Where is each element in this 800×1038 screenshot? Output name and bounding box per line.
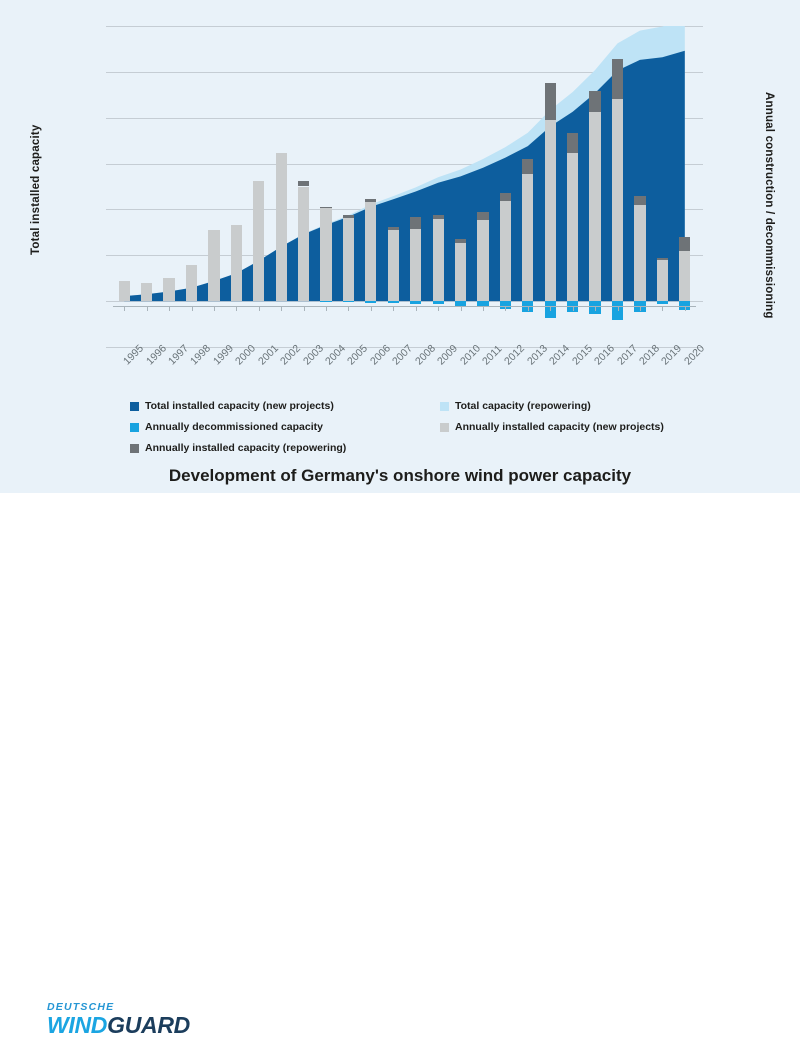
bar-annual-installed-repowering (298, 181, 309, 187)
bar-annual-decommissioned (388, 301, 399, 303)
legend-swatch (130, 423, 139, 432)
x-tickmark (595, 306, 596, 311)
bar-annual-installed-repowering (545, 83, 556, 120)
x-tickmark (169, 306, 170, 311)
legend-item[interactable]: Total installed capacity (new projects) (130, 400, 420, 413)
chart-page: Total installed capacity Annual construc… (0, 0, 800, 560)
x-tickmark (528, 306, 529, 311)
footer: DEUTSCHE WINDGUARD (0, 493, 800, 560)
x-tickmark (685, 306, 686, 311)
legend-label: Annually installed capacity (new project… (455, 421, 664, 434)
left-tickmark (106, 347, 113, 348)
x-tickmark (192, 306, 193, 311)
legend-swatch (440, 402, 449, 411)
bar-annual-installed-repowering (634, 196, 645, 205)
bar-annual-installed-repowering (455, 239, 466, 244)
bar-annual-installed-new (388, 230, 399, 301)
bar-annual-installed-repowering (500, 193, 511, 201)
bar-annual-installed-new (455, 243, 466, 301)
legend-swatch (130, 402, 139, 411)
bar-annual-installed-new (276, 153, 287, 301)
x-tickmark (348, 306, 349, 311)
x-tickmark (416, 306, 417, 311)
bar-annual-installed-repowering (589, 91, 600, 113)
bar-annual-installed-new (343, 218, 354, 301)
left-tickmark (106, 255, 113, 256)
legend-item[interactable]: Annually installed capacity (repowering) (130, 442, 420, 455)
left-tickmark (106, 118, 113, 119)
brand-wind: WIND (47, 1012, 107, 1038)
brand-logo: DEUTSCHE WINDGUARD (47, 1001, 190, 1038)
x-tickmark (461, 306, 462, 311)
legend-label: Annually installed capacity (repowering) (145, 442, 346, 455)
x-tickmark (326, 306, 327, 311)
bar-annual-installed-repowering (388, 227, 399, 230)
legend-item[interactable]: Total capacity (repowering) (440, 400, 690, 413)
bar-annual-installed-new (141, 283, 152, 301)
bar-annual-installed-repowering (477, 212, 488, 221)
right-tickmark (696, 255, 703, 256)
x-tickmark (214, 306, 215, 311)
bar-annual-installed-repowering (410, 217, 421, 229)
right-axis-title: Annual construction / decommissioning (758, 60, 780, 350)
x-tickmark (124, 306, 125, 311)
brand-guard: GUARD (107, 1012, 190, 1038)
bar-annual-installed-new (186, 265, 197, 301)
legend-label: Total installed capacity (new projects) (145, 400, 334, 413)
bar-annual-decommissioned (410, 301, 421, 304)
bar-annual-installed-repowering (657, 258, 668, 260)
x-tickmark (618, 306, 619, 311)
bar-annual-installed-new (522, 174, 533, 301)
x-tickmark (371, 306, 372, 311)
bar-series (113, 26, 696, 347)
bar-annual-installed-new (298, 187, 309, 302)
right-tickmark (696, 26, 703, 27)
x-tickmark (483, 306, 484, 311)
bar-annual-decommissioned (343, 301, 354, 302)
x-axis-labels: 1995199619971998199920002001200220032004… (113, 355, 696, 401)
legend-item[interactable]: Annually installed capacity (new project… (440, 421, 690, 434)
left-axis-title: Total installed capacity (26, 95, 46, 285)
bar-annual-installed-repowering (343, 215, 354, 218)
x-tickmark (550, 306, 551, 311)
right-tickmark (696, 164, 703, 165)
x-tickmark (573, 306, 574, 311)
right-tickmark (696, 118, 703, 119)
left-tickmark (106, 301, 113, 302)
brand-line-windguard: WINDGUARD (47, 1013, 190, 1038)
bar-annual-installed-repowering (567, 133, 578, 153)
x-tickmark (662, 306, 663, 311)
bar-annual-installed-new (163, 278, 174, 301)
bar-annual-installed-repowering (612, 59, 623, 100)
x-tickmark (281, 306, 282, 311)
bar-annual-decommissioned (657, 301, 668, 304)
x-tickmark (236, 306, 237, 311)
bar-annual-installed-new (231, 225, 242, 302)
chart-title: Development of Germany's onshore wind po… (0, 466, 800, 486)
legend-label: Total capacity (repowering) (455, 400, 591, 413)
bar-annual-installed-new (612, 99, 623, 301)
bar-annual-decommissioned (365, 301, 376, 302)
bar-annual-installed-new (208, 230, 219, 301)
bar-annual-installed-new (589, 112, 600, 301)
left-tickmark (106, 164, 113, 165)
bar-annual-installed-repowering (522, 159, 533, 174)
right-tickmark (696, 72, 703, 73)
bar-annual-installed-new (679, 251, 690, 301)
bar-annual-installed-new (253, 181, 264, 301)
bar-annual-installed-new (477, 220, 488, 301)
x-tickmark (393, 306, 394, 311)
left-tickmark (106, 26, 113, 27)
left-tickmark (106, 209, 113, 210)
legend-swatch (130, 444, 139, 453)
x-tickmark (438, 306, 439, 311)
x-tickmark (259, 306, 260, 311)
x-tickmark (147, 306, 148, 311)
right-tickmark (696, 301, 703, 302)
bar-annual-installed-new (500, 201, 511, 301)
legend-label: Annually decommissioned capacity (145, 421, 323, 434)
bar-annual-installed-new (657, 260, 668, 301)
chart-legend: Total installed capacity (new projects)T… (130, 400, 690, 472)
legend-item[interactable]: Annually decommissioned capacity (130, 421, 420, 434)
bar-annual-installed-new (365, 202, 376, 302)
bar-annual-installed-new (410, 229, 421, 301)
bar-annual-installed-repowering (365, 199, 376, 202)
bar-annual-installed-new (433, 219, 444, 301)
bar-annual-installed-repowering (679, 237, 690, 251)
bar-annual-installed-repowering (320, 207, 331, 208)
x-tickmark (304, 306, 305, 311)
zero-axis-line (113, 306, 696, 307)
chart-panel: Total installed capacity Annual construc… (0, 0, 800, 493)
bar-annual-installed-new (545, 120, 556, 302)
bar-annual-installed-new (567, 153, 578, 302)
bar-annual-installed-new (634, 205, 645, 301)
bar-annual-installed-repowering (433, 215, 444, 219)
legend-swatch (440, 423, 449, 432)
plot-area: 60 GW6 GW50 GW5 GW40 GW4 GW30 GW3 GW20 G… (113, 26, 696, 347)
bar-annual-installed-new (320, 208, 331, 301)
left-tickmark (106, 72, 113, 73)
x-tickmark (640, 306, 641, 311)
bar-annual-decommissioned (433, 301, 444, 304)
right-tickmark (696, 209, 703, 210)
bar-annual-installed-new (119, 281, 130, 302)
x-tickmark (505, 306, 506, 311)
